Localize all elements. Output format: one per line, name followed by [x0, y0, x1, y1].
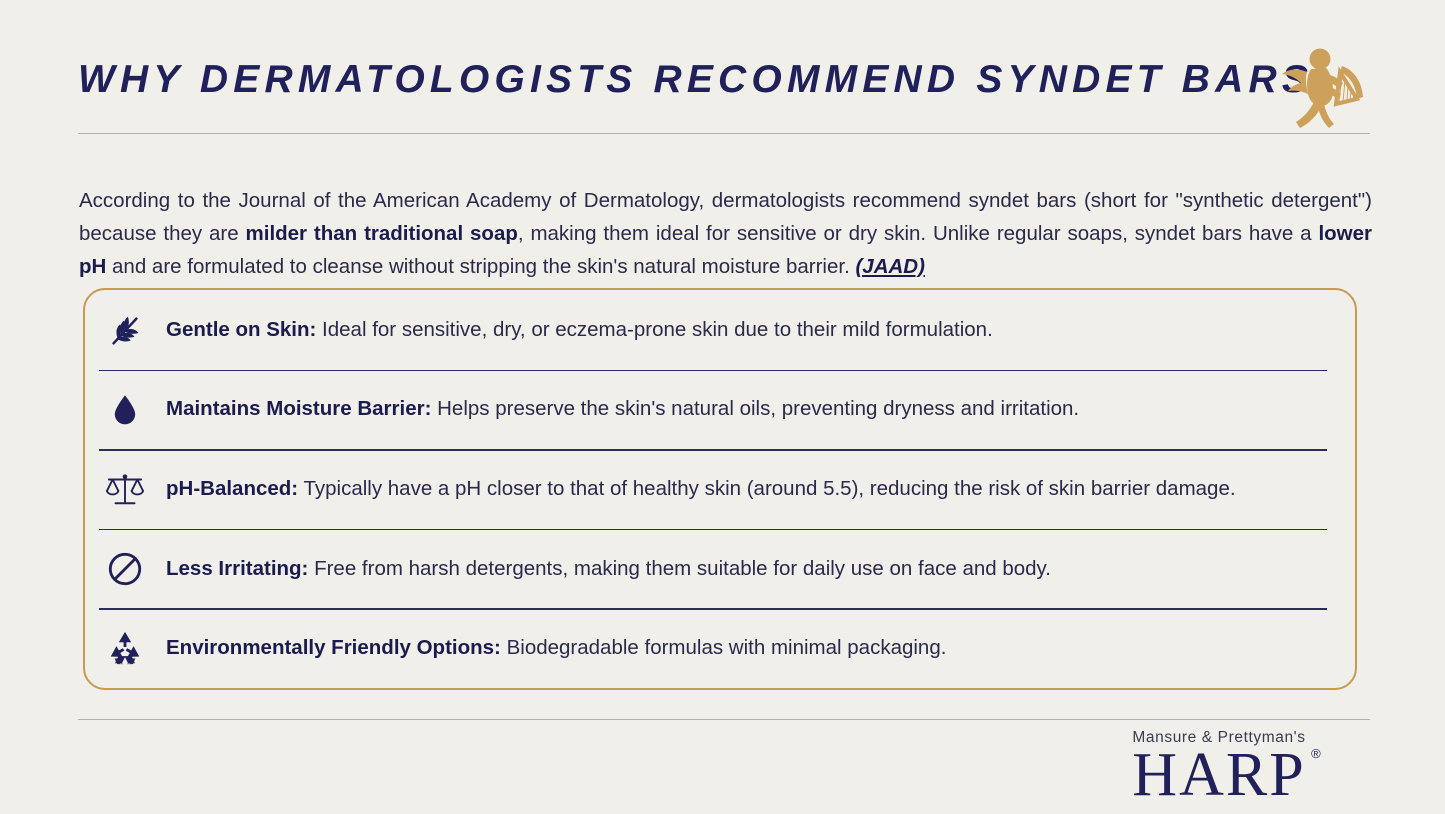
- list-item-text: Gentle on Skin: Ideal for sensitive, dry…: [151, 316, 993, 344]
- list-item-body: Biodegradable formulas with minimal pack…: [501, 636, 947, 659]
- list-item-text: pH-Balanced: Typically have a pH closer …: [151, 475, 1236, 503]
- list-item: pH-Balanced: Typically have a pH closer …: [85, 449, 1355, 529]
- page-title: WHY DERMATOLOGISTS RECOMMEND SYNDET BARS: [78, 58, 1313, 102]
- list-item: Less Irritating: Free from harsh deterge…: [85, 529, 1355, 609]
- list-item-lead: Environmentally Friendly Options:: [166, 636, 501, 659]
- list-item-lead: pH-Balanced:: [166, 477, 298, 500]
- list-item-text: Maintains Moisture Barrier: Helps preser…: [151, 395, 1079, 423]
- brand-name-text: HARP: [1132, 741, 1305, 809]
- header-divider: [78, 133, 1370, 134]
- poster-page: WHY DERMATOLOGISTS RECOMMEND SYNDET BARS: [0, 0, 1445, 814]
- intro-bold-milder: milder than traditional soap: [246, 222, 518, 245]
- registered-trademark-icon: ®: [1311, 747, 1323, 760]
- list-item: Gentle on Skin: Ideal for sensitive, dry…: [85, 290, 1355, 370]
- jaad-citation-link[interactable]: (JAAD): [855, 255, 924, 278]
- recycle-icon: [99, 627, 151, 669]
- list-item-body: Free from harsh detergents, making them …: [308, 557, 1051, 580]
- balance-scale-icon: [99, 468, 151, 510]
- header: WHY DERMATOLOGISTS RECOMMEND SYNDET BARS: [78, 52, 1370, 130]
- intro-text-part-3: and are formulated to cleanse without st…: [106, 255, 855, 278]
- list-item-lead: Gentle on Skin:: [166, 318, 316, 341]
- list-item: Maintains Moisture Barrier: Helps preser…: [85, 370, 1355, 450]
- footer-divider: [78, 719, 1370, 720]
- water-droplet-icon: [99, 388, 151, 430]
- list-item-text: Less Irritating: Free from harsh deterge…: [151, 555, 1051, 583]
- brand-wordmark: HARP®: [1132, 743, 1305, 807]
- benefits-box: Gentle on Skin: Ideal for sensitive, dry…: [83, 288, 1357, 690]
- list-item-lead: Less Irritating:: [166, 557, 308, 580]
- intro-text-part-2: , making them ideal for sensitive or dry…: [518, 222, 1319, 245]
- list-item-body: Typically have a pH closer to that of he…: [298, 477, 1235, 500]
- benefits-list: Gentle on Skin: Ideal for sensitive, dry…: [85, 290, 1355, 688]
- list-item-text: Environmentally Friendly Options: Biodeg…: [151, 634, 946, 662]
- prohibition-icon: [99, 548, 151, 590]
- leaf-icon: [99, 309, 151, 351]
- list-item-lead: Maintains Moisture Barrier:: [166, 397, 431, 420]
- list-item-body: Ideal for sensitive, dry, or eczema-pron…: [316, 318, 992, 341]
- list-item: Environmentally Friendly Options: Biodeg…: [85, 608, 1355, 688]
- intro-paragraph: According to the Journal of the American…: [79, 184, 1372, 283]
- cherub-with-harp-icon: [1274, 42, 1370, 134]
- list-item-body: Helps preserve the skin's natural oils, …: [431, 397, 1079, 420]
- brand-logo: Mansure & Prettyman's HARP®: [1069, 729, 1369, 807]
